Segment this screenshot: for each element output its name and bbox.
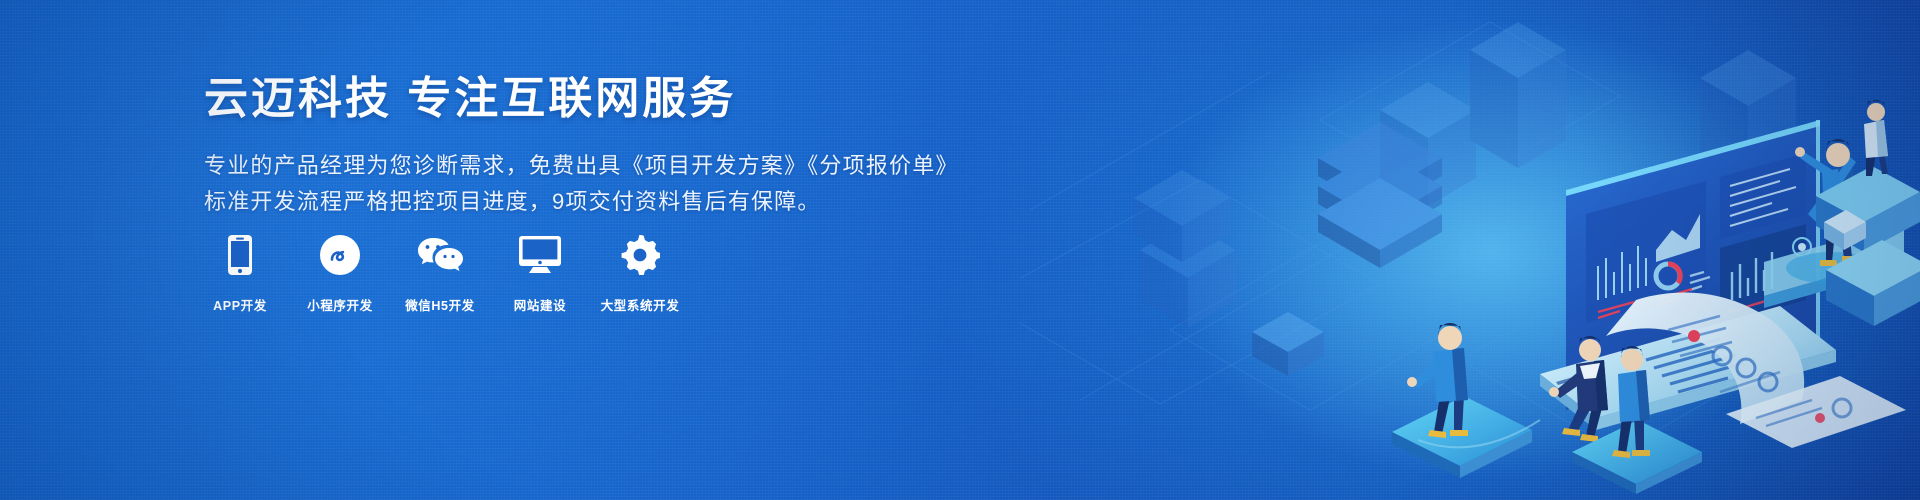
mobile-phone-icon [228, 232, 252, 278]
service-item-website[interactable]: 网站建设 [504, 232, 576, 314]
hero-banner: 云迈科技 专注互联网服务 专业的产品经理为您诊断需求，免费出具《项目开发方案》《… [0, 0, 1920, 500]
wechat-icon [416, 232, 464, 278]
gear-icon [620, 232, 660, 278]
service-list: APP开发 小程序开发 微信 [204, 232, 704, 314]
figure-on-block [1864, 100, 1888, 176]
service-label: 网站建设 [514, 295, 566, 314]
isometric-tech-dashboard-illustration [1020, 0, 1920, 500]
page-title: 云迈科技 专注互联网服务 [204, 72, 924, 126]
service-label: APP开发 [213, 295, 267, 314]
illustration-container [1020, 0, 1920, 500]
service-label: 小程序开发 [307, 295, 373, 314]
subtitle-line-1: 专业的产品经理为您诊断需求，免费出具《项目开发方案》《分项报价单》 [204, 148, 924, 184]
subtitle-line-2: 标准开发流程严格把控项目进度，9项交付资料售后有保障。 [204, 184, 924, 220]
service-item-app[interactable]: APP开发 [204, 232, 276, 314]
hero-subtitle: 专业的产品经理为您诊断需求，免费出具《项目开发方案》《分项报价单》 标准开发流程… [204, 148, 924, 220]
service-item-mini-program[interactable]: 小程序开发 [304, 232, 376, 314]
monitor-icon [519, 232, 561, 278]
service-item-large-system[interactable]: 大型系统开发 [604, 232, 676, 314]
service-label: 微信H5开发 [405, 295, 475, 314]
service-item-wechat-h5[interactable]: 微信H5开发 [404, 232, 476, 314]
service-label: 大型系统开发 [601, 295, 680, 314]
hero-copy: 云迈科技 专注互联网服务 专业的产品经理为您诊断需求，免费出具《项目开发方案》《… [204, 72, 924, 220]
mini-program-icon [320, 232, 360, 278]
